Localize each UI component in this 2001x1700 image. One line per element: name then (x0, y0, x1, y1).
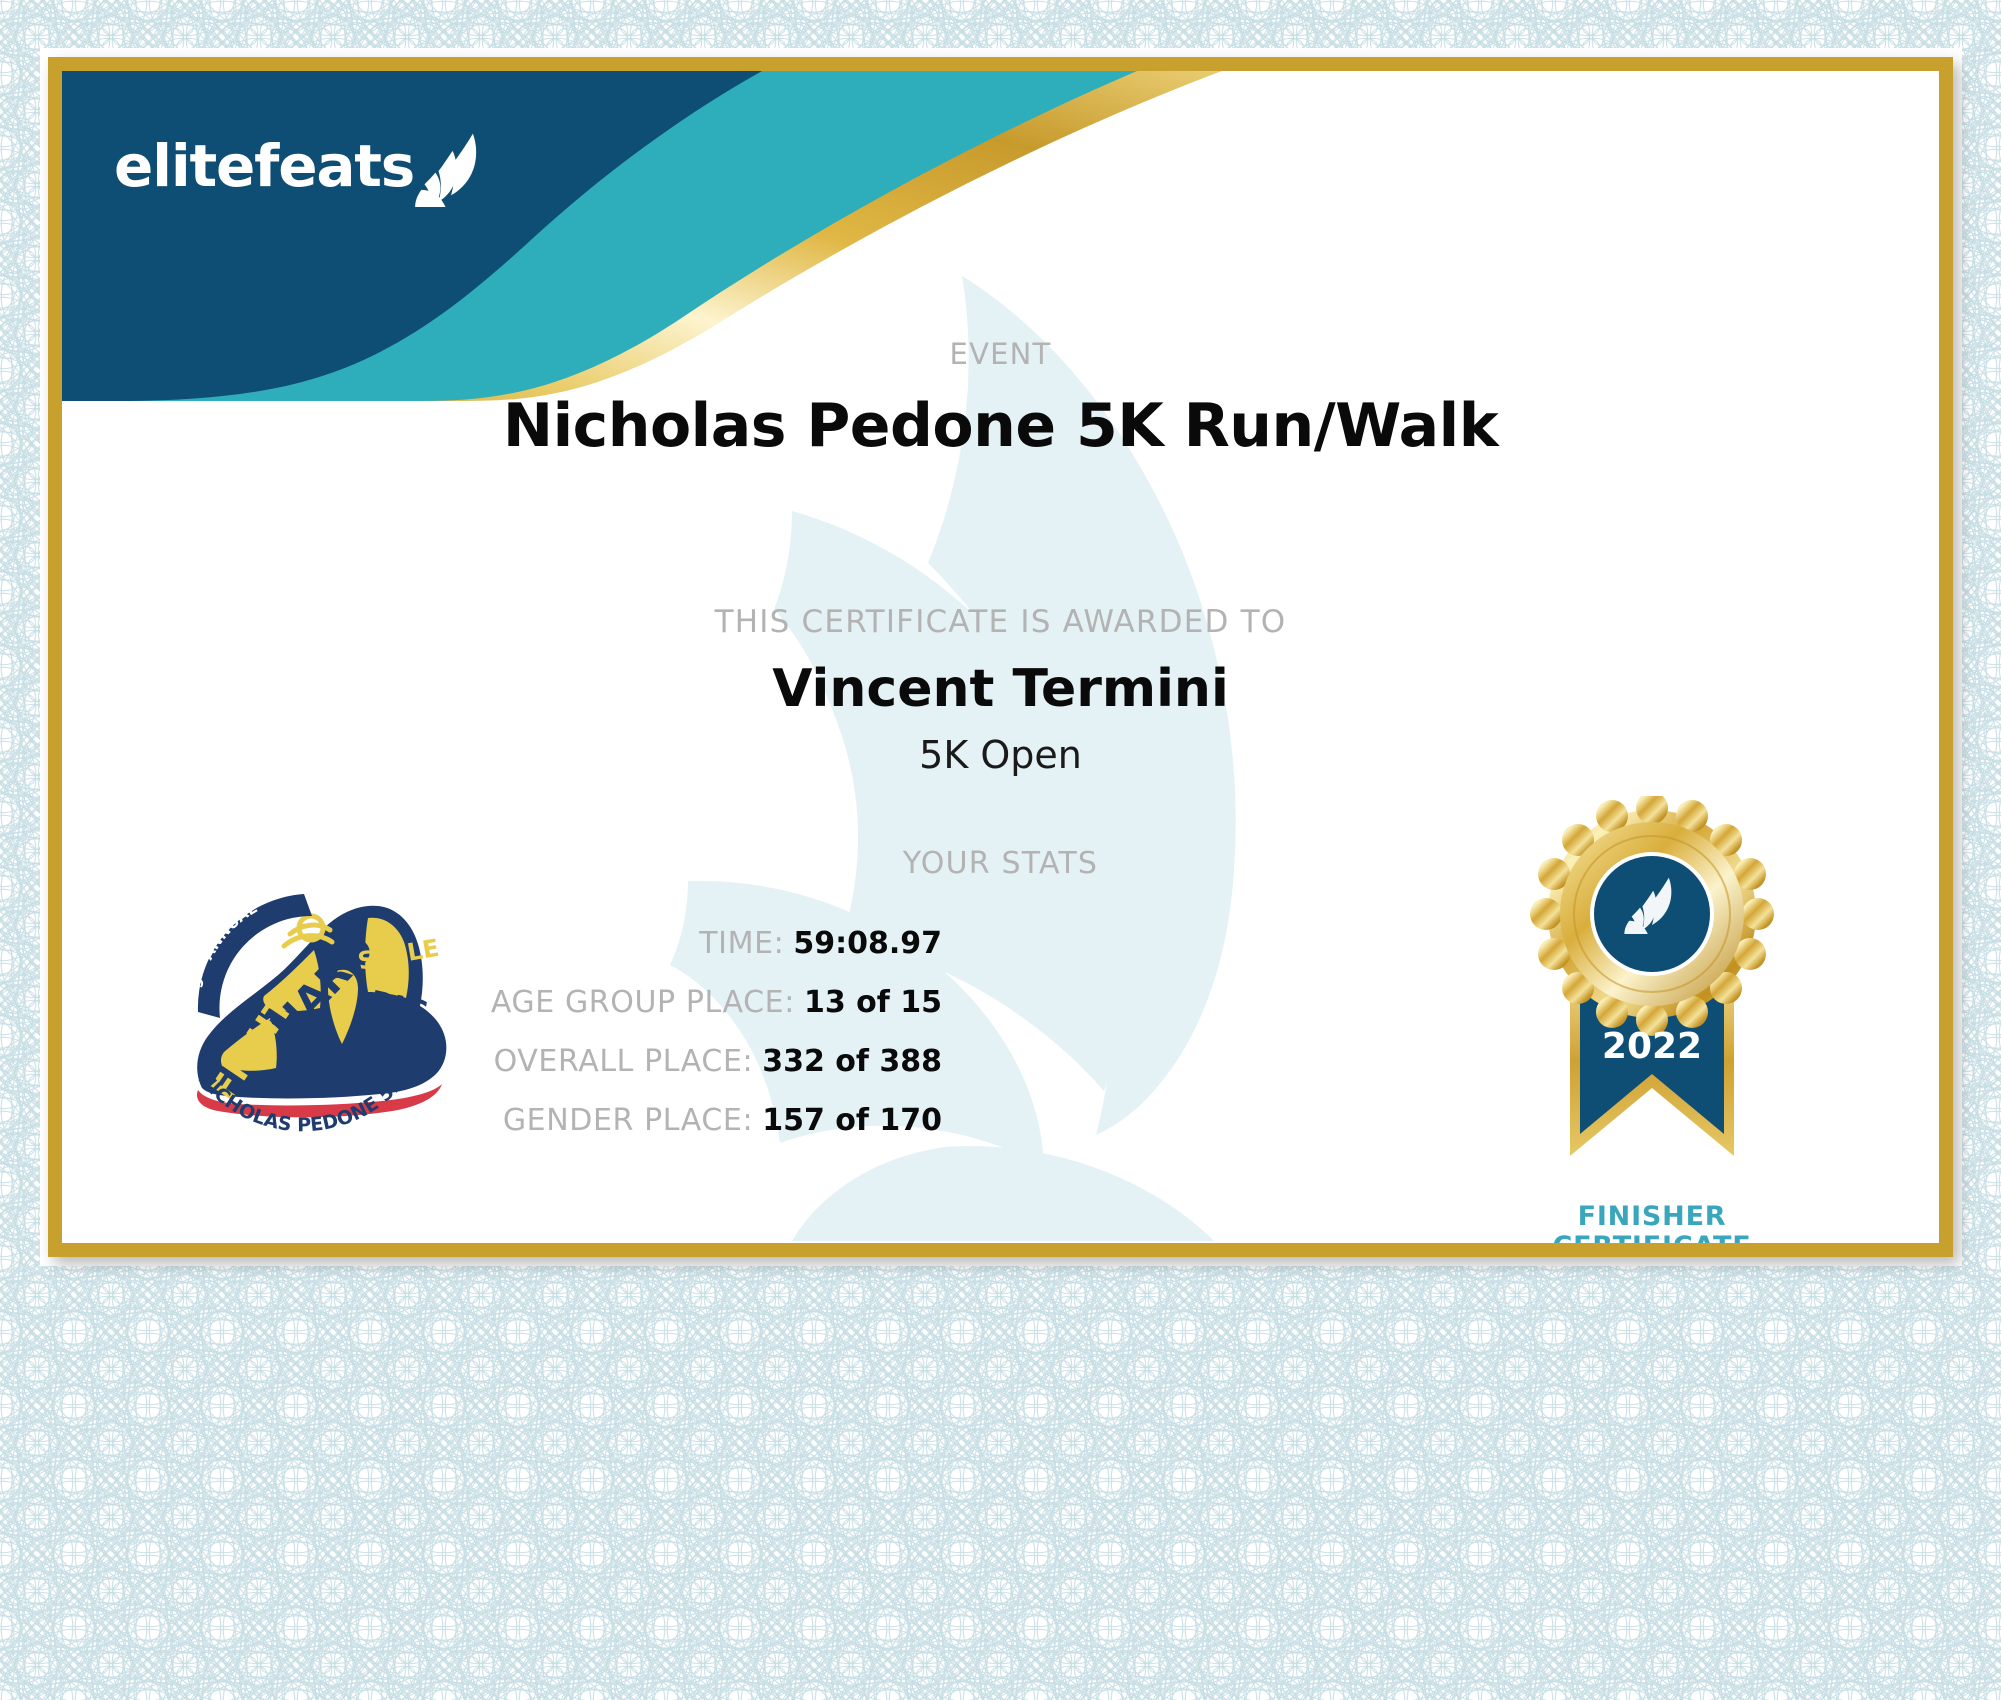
stat-row: AGE GROUP PLACE: 13 of 15 (402, 985, 942, 1020)
stat-row: OVERALL PLACE: 332 of 388 (402, 1044, 942, 1079)
event-label: EVENT (62, 337, 1939, 371)
stat-value: 13 of 15 (804, 985, 942, 1020)
finisher-line-1: FINISHER (1492, 1202, 1812, 1232)
winged-foot-icon (412, 129, 490, 207)
finisher-medal-block: 2022 FINISHER CERTIFICATE (1492, 796, 1812, 1243)
stat-value: 59:08.97 (793, 926, 942, 961)
stat-row: GENDER PLACE: 157 of 170 (402, 1103, 942, 1138)
event-title: Nicholas Pedone 5K Run/Walk (62, 391, 1939, 461)
certificate-card: elitefeats EVENT Nicholas Pedone 5K Run/… (48, 57, 1953, 1257)
awarded-to-label: THIS CERTIFICATE IS AWARDED TO (62, 604, 1939, 640)
certificate-content: EVENT Nicholas Pedone 5K Run/Walk THIS C… (62, 71, 1939, 1243)
stat-key: TIME: (699, 926, 784, 961)
running-shoe-logo-icon: FIGHT HARD SMILE BIG 9TH ANNUAL NIC (172, 876, 472, 1146)
stat-row: TIME: 59:08.97 (402, 926, 942, 961)
medal-year: 2022 (1602, 1026, 1702, 1067)
recipient-name: Vincent Termini (62, 659, 1939, 719)
award-ribbon-medal-icon: 2022 (1512, 796, 1792, 1196)
finisher-line-2: CERTIFICATE (1492, 1232, 1812, 1243)
stat-key: AGE GROUP PLACE: (491, 985, 795, 1020)
elitefeats-wordmark: elitefeats (114, 137, 414, 195)
finisher-certificate-caption: FINISHER CERTIFICATE (1492, 1202, 1812, 1243)
certificate-page: elitefeats EVENT Nicholas Pedone 5K Run/… (0, 0, 2001, 1700)
stats-list: TIME: 59:08.97 AGE GROUP PLACE: 13 of 15… (402, 926, 942, 1162)
stat-value: 332 of 388 (762, 1044, 942, 1079)
division-label: 5K Open (62, 733, 1939, 777)
stat-key: OVERALL PLACE: (494, 1044, 754, 1079)
certificate-body: elitefeats EVENT Nicholas Pedone 5K Run/… (62, 71, 1939, 1243)
stat-value: 157 of 170 (762, 1103, 942, 1138)
elitefeats-logo: elitefeats (114, 129, 490, 195)
stat-key: GENDER PLACE: (503, 1103, 753, 1138)
